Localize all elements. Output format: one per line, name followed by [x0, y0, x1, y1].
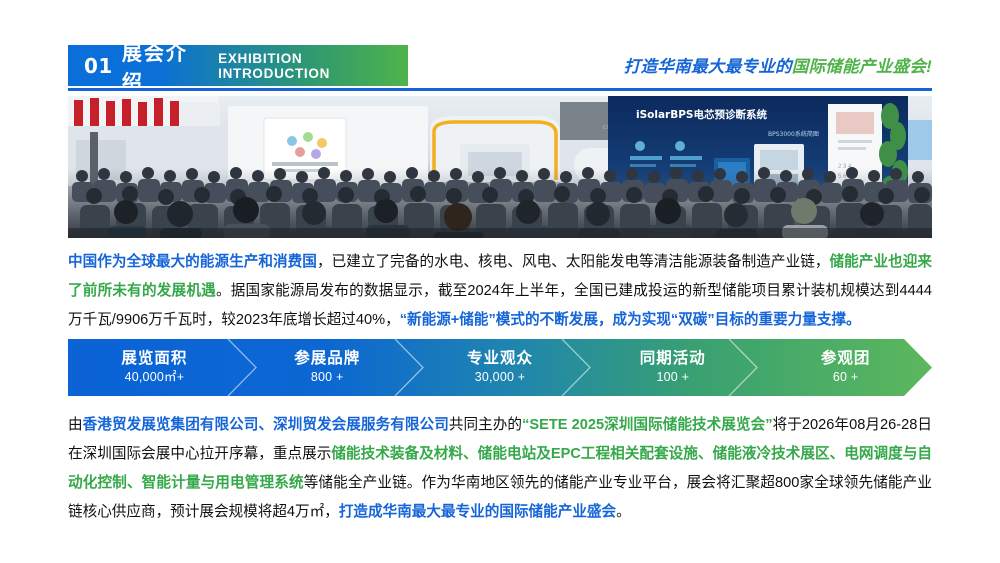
intro-seg-1: 中国作为全球最大的能源生产和消费国: [68, 254, 317, 270]
detail-seg-9: 。: [616, 504, 631, 520]
stat-item-exhibition-area: 展览面积 40,000㎡+: [68, 339, 241, 396]
detail-seg-organizers: 香港贸发展览集团有限公司、深圳贸发会展服务有限公司: [83, 417, 449, 433]
stat-label: 专业观众: [467, 349, 533, 368]
stat-value: 60 +: [833, 368, 858, 387]
stat-value: 800 +: [311, 368, 344, 387]
stat-label: 同期活动: [640, 349, 706, 368]
stat-value: 30,000 +: [475, 368, 526, 387]
stat-item-delegations: 参观团 60 +: [759, 339, 932, 396]
slogan-blue-part: 打造华南最大最专业的: [624, 58, 792, 76]
header-divider-rule: [68, 88, 932, 91]
section-number: 01: [84, 54, 113, 78]
header-slogan: 打造华南最大最专业的国际储能产业盛会!: [624, 53, 932, 77]
stat-value: 100 +: [656, 368, 689, 387]
stat-label: 参展品牌: [294, 349, 360, 368]
svg-text:BPS3000系统简图: BPS3000系统简图: [768, 130, 819, 138]
section-tag-banner: 01 展会介绍 EXHIBITION INTRODUCTION: [68, 45, 408, 86]
detail-seg-3: 共同主办的: [449, 417, 522, 433]
stats-chevron-bar: 展览面积 40,000㎡+ 参展品牌 800 + 专业观众 30,000 + 同…: [68, 339, 932, 396]
section-title-en: EXHIBITION INTRODUCTION: [218, 51, 408, 81]
section-header: 01 展会介绍 EXHIBITION INTRODUCTION 打造华南最大最专…: [0, 45, 1000, 86]
detail-seg-1: 由: [68, 417, 83, 433]
slide-page: 01 展会介绍 EXHIBITION INTRODUCTION 打造华南最大最专…: [0, 0, 1000, 563]
stat-item-brands: 参展品牌 800 +: [241, 339, 414, 396]
intro-seg-2: ，已建立了完备的水电、核电、风电、太阳能发电等清洁能源装备制造产业链，: [317, 254, 830, 270]
stat-value: 40,000㎡+: [125, 368, 185, 387]
exhibition-crowd-photo: 旺光智储 工商业 Clean Power for Industry, Creat…: [68, 96, 932, 238]
detail-seg-closing-slogan: 打造成华南最大最专业的国际储能产业盛会: [339, 504, 616, 520]
slogan-green-part: 国际储能产业盛会!: [792, 58, 932, 76]
stat-label: 展览面积: [121, 349, 187, 368]
event-details-paragraph: 由香港贸发展览集团有限公司、深圳贸发会展服务有限公司共同主办的“SETE 202…: [68, 411, 932, 527]
stat-item-events: 同期活动 100 +: [586, 339, 759, 396]
photo-banner-text: iSolarBPS电芯预诊断系统: [636, 108, 767, 121]
stats-cell-list: 展览面积 40,000㎡+ 参展品牌 800 + 专业观众 30,000 + 同…: [68, 339, 932, 396]
photo-graphic: 旺光智储 工商业 Clean Power for Industry, Creat…: [68, 96, 932, 238]
section-title-cn: 展会介绍: [122, 37, 205, 95]
stat-label: 参观团: [821, 349, 871, 368]
intro-paragraph: 中国作为全球最大的能源生产和消费国，已建立了完备的水电、核电、风电、太阳能发电等…: [68, 248, 932, 335]
stat-item-visitors: 专业观众 30,000 +: [414, 339, 587, 396]
detail-seg-event-name: “SETE 2025深圳国际储能技术展览会”: [522, 417, 772, 433]
intro-seg-5: “新能源+储能”模式的不断发展，成为实现“双碳”目标的重要力量支撑。: [400, 312, 861, 328]
